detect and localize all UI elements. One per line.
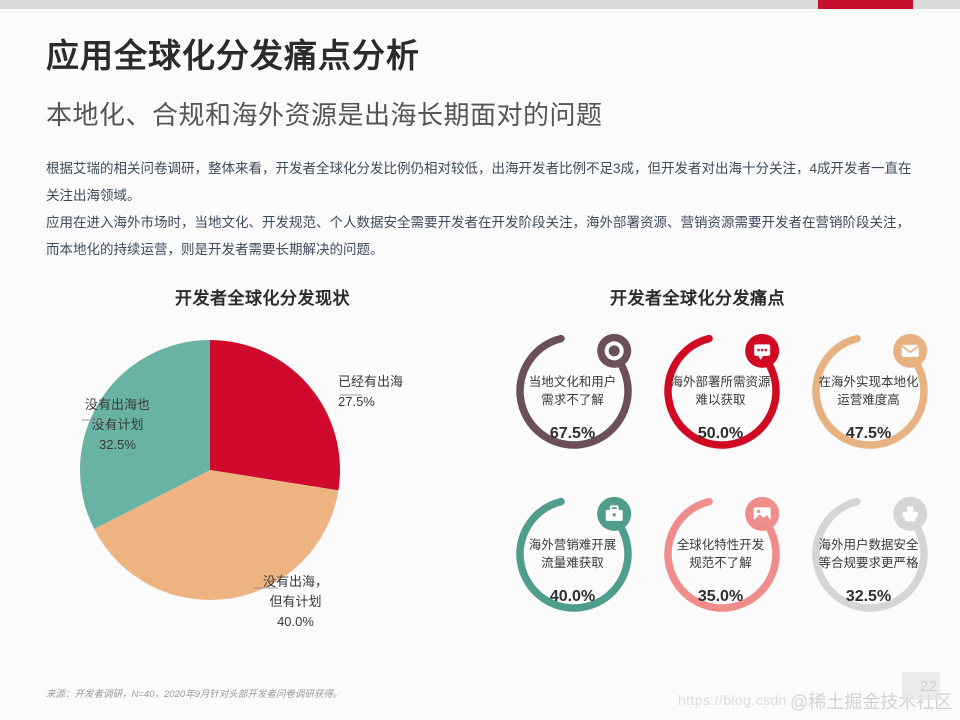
pie-leader-lines	[60, 320, 500, 660]
donut-ring-label-line2: 需求不了解	[500, 391, 645, 409]
donut-ring-value: 50.0%	[648, 425, 793, 443]
donut-ring-label-line1: 海外部署所需资源	[648, 373, 793, 391]
top-accent-bar-red-segment	[818, 0, 913, 9]
donut-ring-item[interactable]: 全球化特性开发规范不了解35.0%	[648, 488, 793, 643]
donut-ring-label: 海外部署所需资源难以获取	[648, 373, 793, 409]
page-subtitle: 本地化、合规和海外资源是出海长期面对的问题	[46, 100, 603, 131]
donut-ring-value: 40.0%	[500, 588, 645, 606]
donut-ring-label: 当地文化和用户需求不了解	[500, 373, 645, 409]
donut-ring-item[interactable]: 当地文化和用户需求不了解67.5%	[500, 325, 645, 480]
donut-ring-label-line1: 海外营销难开展	[500, 536, 645, 554]
donut-ring-label: 全球化特性开发规范不了解	[648, 536, 793, 572]
pie-chart-title: 开发者全球化分发现状	[175, 284, 350, 309]
plus-badge-icon	[893, 497, 927, 531]
top-accent-bar	[0, 0, 960, 9]
body-copy: 根据艾瑞的相关问卷调研，整体来看，开发者全球化分发比例仍相对较低，出海开发者比例…	[46, 155, 922, 263]
donut-ring-label-line2: 规范不了解	[648, 554, 793, 572]
donut-grid-title: 开发者全球化分发痛点	[610, 284, 785, 309]
donut-ring-value: 67.5%	[500, 425, 645, 443]
donut-ring-label: 海外营销难开展流量难获取	[500, 536, 645, 572]
donut-ring-label-line2: 运营难度高	[796, 391, 941, 409]
body-paragraph-2: 应用在进入海外市场时，当地文化、开发规范、个人数据安全需要开发者在开发阶段关注，…	[46, 209, 922, 263]
donut-ring-value: 35.0%	[648, 588, 793, 606]
donut-ring-item[interactable]: 海外部署所需资源难以获取50.0%	[648, 325, 793, 480]
watermark-url: https://blog.csdn	[678, 692, 787, 708]
donut-ring-label-line1: 当地文化和用户	[500, 373, 645, 391]
donut-ring-label-line2: 等合规要求更严格	[796, 554, 941, 572]
target-icon	[597, 334, 631, 368]
briefcase-icon	[597, 497, 631, 531]
donut-ring-label-line2: 难以获取	[648, 391, 793, 409]
donut-ring-label-line1: 海外用户数据安全	[796, 536, 941, 554]
donut-ring-item[interactable]: 海外用户数据安全等合规要求更严格32.5%	[796, 488, 941, 643]
donut-ring-label-line1: 在海外实现本地化	[796, 373, 941, 391]
chat-bubble-icon	[745, 334, 779, 368]
body-paragraph-1: 根据艾瑞的相关问卷调研，整体来看，开发者全球化分发比例仍相对较低，出海开发者比例…	[46, 155, 922, 209]
donut-ring-value: 32.5%	[796, 588, 941, 606]
donut-ring-label-line1: 全球化特性开发	[648, 536, 793, 554]
donut-ring-label: 海外用户数据安全等合规要求更严格	[796, 536, 941, 572]
pie-chart: 已经有出海 27.5% 没有出海， 但有计划 40.0% 没有出海也 没有计划 …	[60, 320, 500, 660]
source-note: 来源：开发者调研，N=40，2020年9月针对头部开发者问卷调研获得。	[46, 686, 342, 700]
page-title: 应用全球化分发痛点分析	[46, 36, 420, 76]
donut-ring-item[interactable]: 在海外实现本地化运营难度高47.5%	[796, 325, 941, 480]
image-icon	[745, 497, 779, 531]
donut-ring-item[interactable]: 海外营销难开展流量难获取40.0%	[500, 488, 645, 643]
donut-ring-label: 在海外实现本地化运营难度高	[796, 373, 941, 409]
mail-icon	[893, 334, 927, 368]
donut-ring-value: 47.5%	[796, 425, 941, 443]
donut-ring-grid: 当地文化和用户需求不了解67.5% 海外部署所需资源难以获取50.0% 在海外实…	[500, 325, 955, 645]
donut-ring-label-line2: 流量难获取	[500, 554, 645, 572]
page-number: 22	[920, 678, 950, 695]
